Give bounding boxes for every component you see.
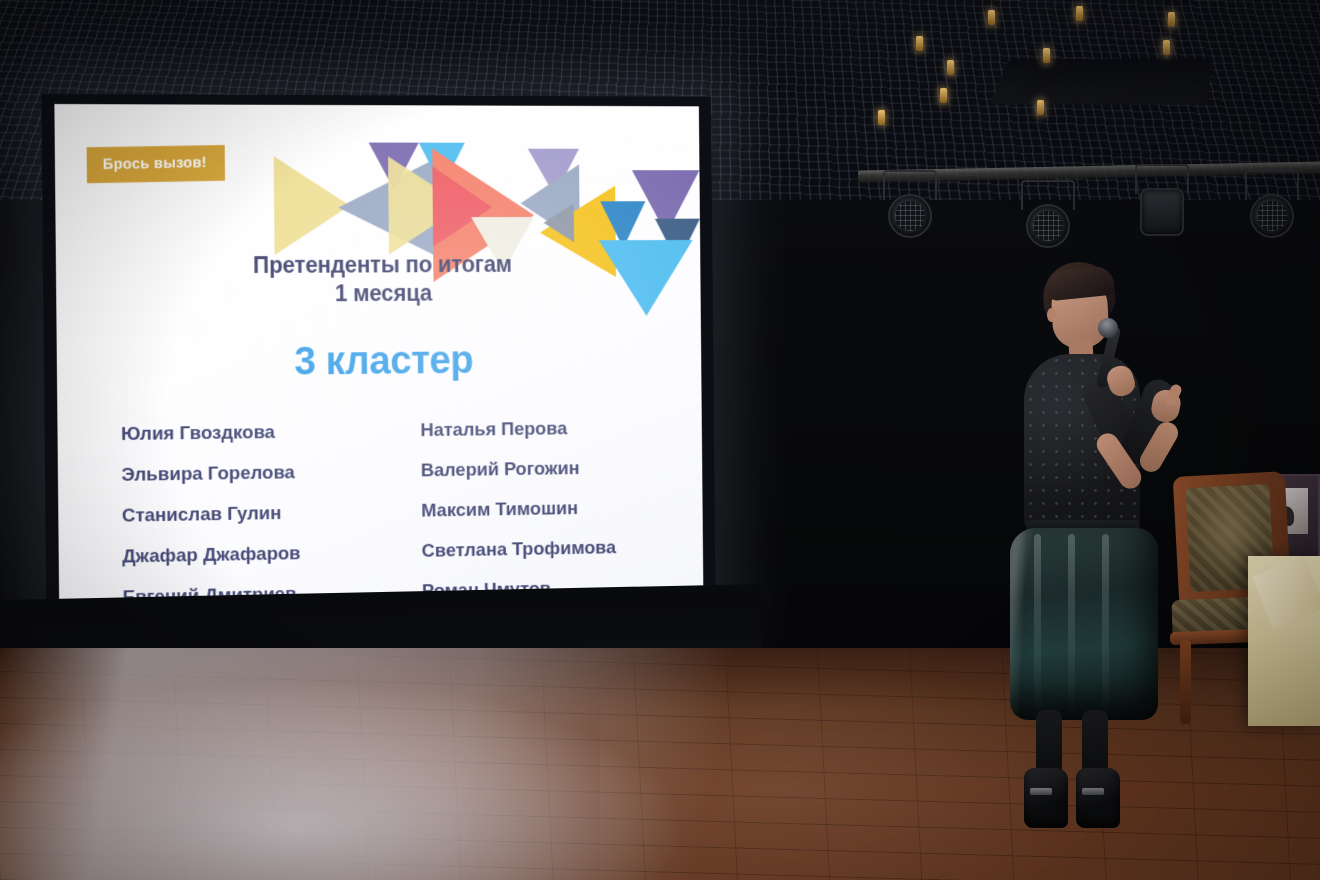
par-can-light (1026, 196, 1070, 248)
candidate-name: Светлана Трофимова (422, 538, 662, 561)
ceiling-lamp (988, 10, 995, 25)
candidate-name: Юлия Гвоздкова (121, 422, 369, 444)
stage-scene: Брось вызов! (0, 0, 1320, 880)
presenter-boot (1024, 768, 1068, 828)
ceiling-lamp (916, 36, 923, 51)
par-can-light (1250, 186, 1294, 238)
skirt-fold (1068, 534, 1075, 714)
par-can-light (888, 186, 932, 238)
boot-buckle (1030, 788, 1052, 795)
slide-subtitle-line2: 1 месяца (56, 278, 701, 311)
light-lens (1033, 211, 1063, 241)
triangle-pale-yellow (274, 156, 351, 255)
light-lens (1257, 201, 1287, 231)
slide-subtitle-line1: Претенденты по итогам (56, 250, 701, 282)
light-lens (895, 201, 925, 231)
slide-title: 3 кластер (57, 337, 702, 387)
presenter-boot (1076, 768, 1120, 828)
candidate-name: Джафар Джафаров (122, 543, 370, 566)
candidate-name: Эльвира Горелова (121, 462, 369, 484)
presentation-slide: Брось вызов! (54, 104, 703, 646)
boot-buckle (1082, 788, 1104, 795)
candidate-name: Максим Тимошин (421, 498, 661, 521)
candidate-name: Станислав Гулин (122, 503, 370, 526)
projection-screen-frame: Брось вызов! (41, 94, 716, 654)
candidate-name: Наталья Перова (420, 418, 660, 440)
slide-subtitle: Претенденты по итогам 1 месяца (56, 250, 701, 311)
ceiling-lamp (1163, 40, 1170, 55)
ceiling-lamp (878, 110, 885, 125)
ceiling-lamp (1037, 100, 1044, 115)
ceiling-lamp (1076, 6, 1083, 21)
ceiling-vent-panel (990, 59, 1212, 104)
skirt-fold (1102, 534, 1109, 714)
presenter (990, 262, 1210, 822)
presenter-ear (1047, 308, 1056, 322)
light-housing (1140, 188, 1184, 236)
candidate-name: Валерий Рогожин (421, 458, 661, 480)
ceiling-lamp (1168, 12, 1175, 27)
par-can-light (1140, 180, 1184, 232)
ceiling-lamp (940, 88, 947, 103)
ceiling-lamp (947, 60, 954, 75)
projection-screen: Брось вызов! (54, 104, 703, 646)
skirt-fold (1034, 534, 1041, 714)
presenter-skirt (1010, 528, 1158, 720)
ceiling-lamp (1043, 48, 1050, 63)
